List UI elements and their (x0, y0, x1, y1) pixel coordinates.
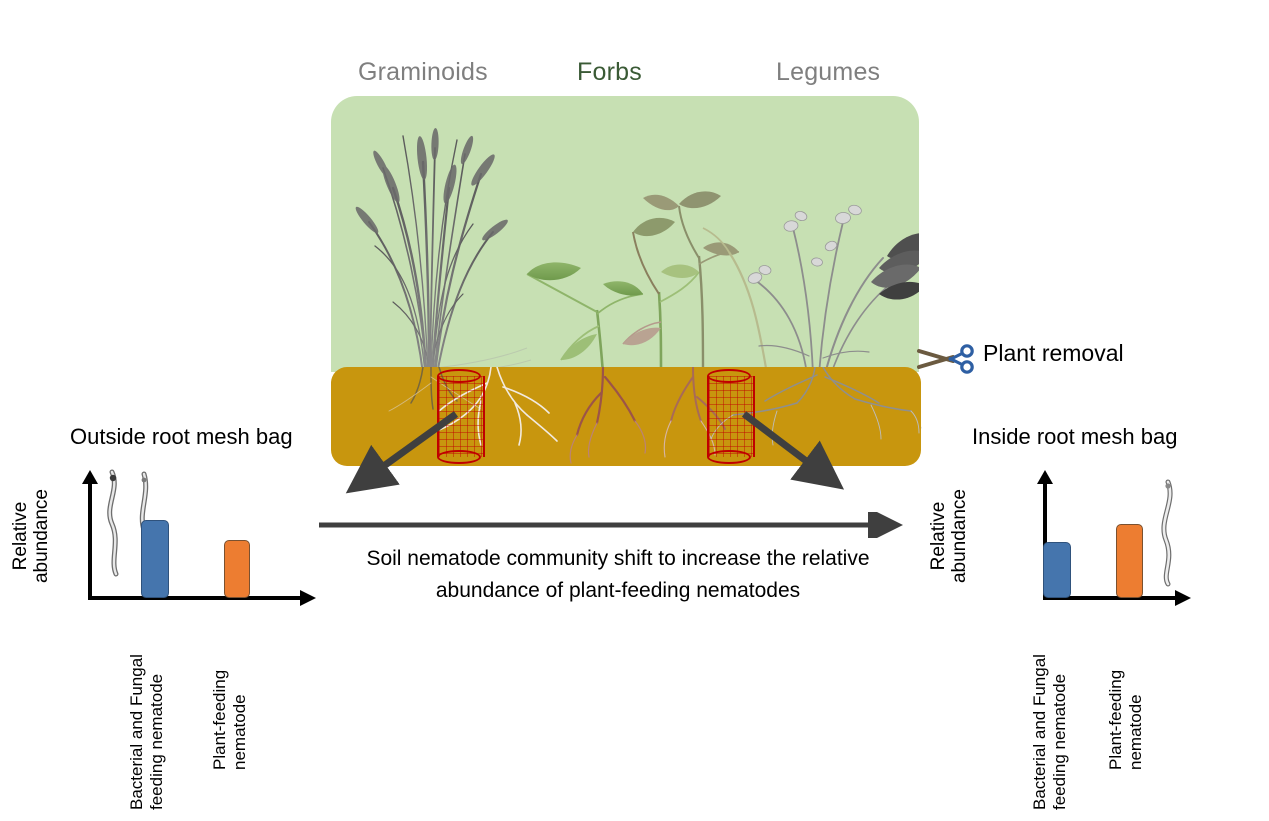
left-chart-x-axis-arrowhead (300, 590, 316, 606)
plant-group-label-forbs: Forbs (577, 58, 642, 87)
y-axis-label-line2: abundance (949, 466, 970, 606)
left-chart-category-label-2: Plant-feeding nematode (210, 610, 250, 770)
scissors-icon[interactable] (915, 338, 977, 378)
category-label-line2: feeding nematode (147, 610, 167, 810)
left-chart-x-axis (88, 596, 303, 600)
right-chart-category-label-2: Plant-feeding nematode (1106, 610, 1146, 770)
category-label-line1: Bacterial and Fungal (127, 610, 147, 810)
center-shift-arrow (315, 512, 915, 538)
category-label-line1: Plant-feeding (1106, 610, 1126, 770)
plant-group-label-legumes: Legumes (776, 58, 880, 87)
right-pointer-arrow (730, 400, 860, 500)
left-chart-y-axis-label: Relative abundance (10, 466, 52, 606)
bar-bacterial-fungal-feeding-nematode[interactable] (1043, 542, 1071, 598)
right-chart-x-axis-arrowhead (1175, 590, 1191, 606)
y-axis-label-line1: Relative (928, 466, 949, 606)
category-label-line1: Bacterial and Fungal (1030, 610, 1050, 810)
category-label-line2: nematode (1126, 610, 1146, 770)
bar-bacterial-fungal-feeding-nematode[interactable] (141, 520, 169, 598)
category-label-line1: Plant-feeding (210, 610, 230, 770)
plant-group-label-graminoids: Graminoids (358, 58, 488, 87)
center-caption: Soil nematode community shift to increas… (318, 543, 918, 607)
left-chart-y-axis (88, 480, 92, 600)
category-label-line2: nematode (230, 610, 250, 770)
nematode-illustration-right (1148, 478, 1190, 588)
left-chart-y-axis-arrowhead (82, 470, 98, 484)
right-chart: Relative abundance Bacterial and Fungal … (920, 460, 1269, 820)
bar-plant-feeding-nematode[interactable] (224, 540, 250, 598)
left-chart-title: Outside root mesh bag (70, 424, 293, 450)
right-chart-y-axis-arrowhead (1037, 470, 1053, 484)
right-chart-title: Inside root mesh bag (972, 424, 1177, 450)
left-pointer-arrow (330, 400, 470, 500)
mesh-bag-top-cap (437, 369, 481, 383)
bar-plant-feeding-nematode[interactable] (1116, 524, 1143, 598)
left-chart: Relative abundance Bacterial and Fungal … (0, 460, 320, 820)
right-chart-category-label-1: Bacterial and Fungal feeding nematode (1030, 610, 1070, 810)
mesh-bag-top-cap (707, 369, 751, 383)
y-axis-label-line2: abundance (31, 466, 52, 606)
y-axis-label-line1: Relative (10, 466, 31, 606)
plant-removal-label: Plant removal (983, 340, 1124, 367)
right-chart-y-axis-label: Relative abundance (928, 466, 970, 606)
category-label-line2: feeding nematode (1050, 610, 1070, 810)
left-chart-category-label-1: Bacterial and Fungal feeding nematode (127, 610, 167, 810)
